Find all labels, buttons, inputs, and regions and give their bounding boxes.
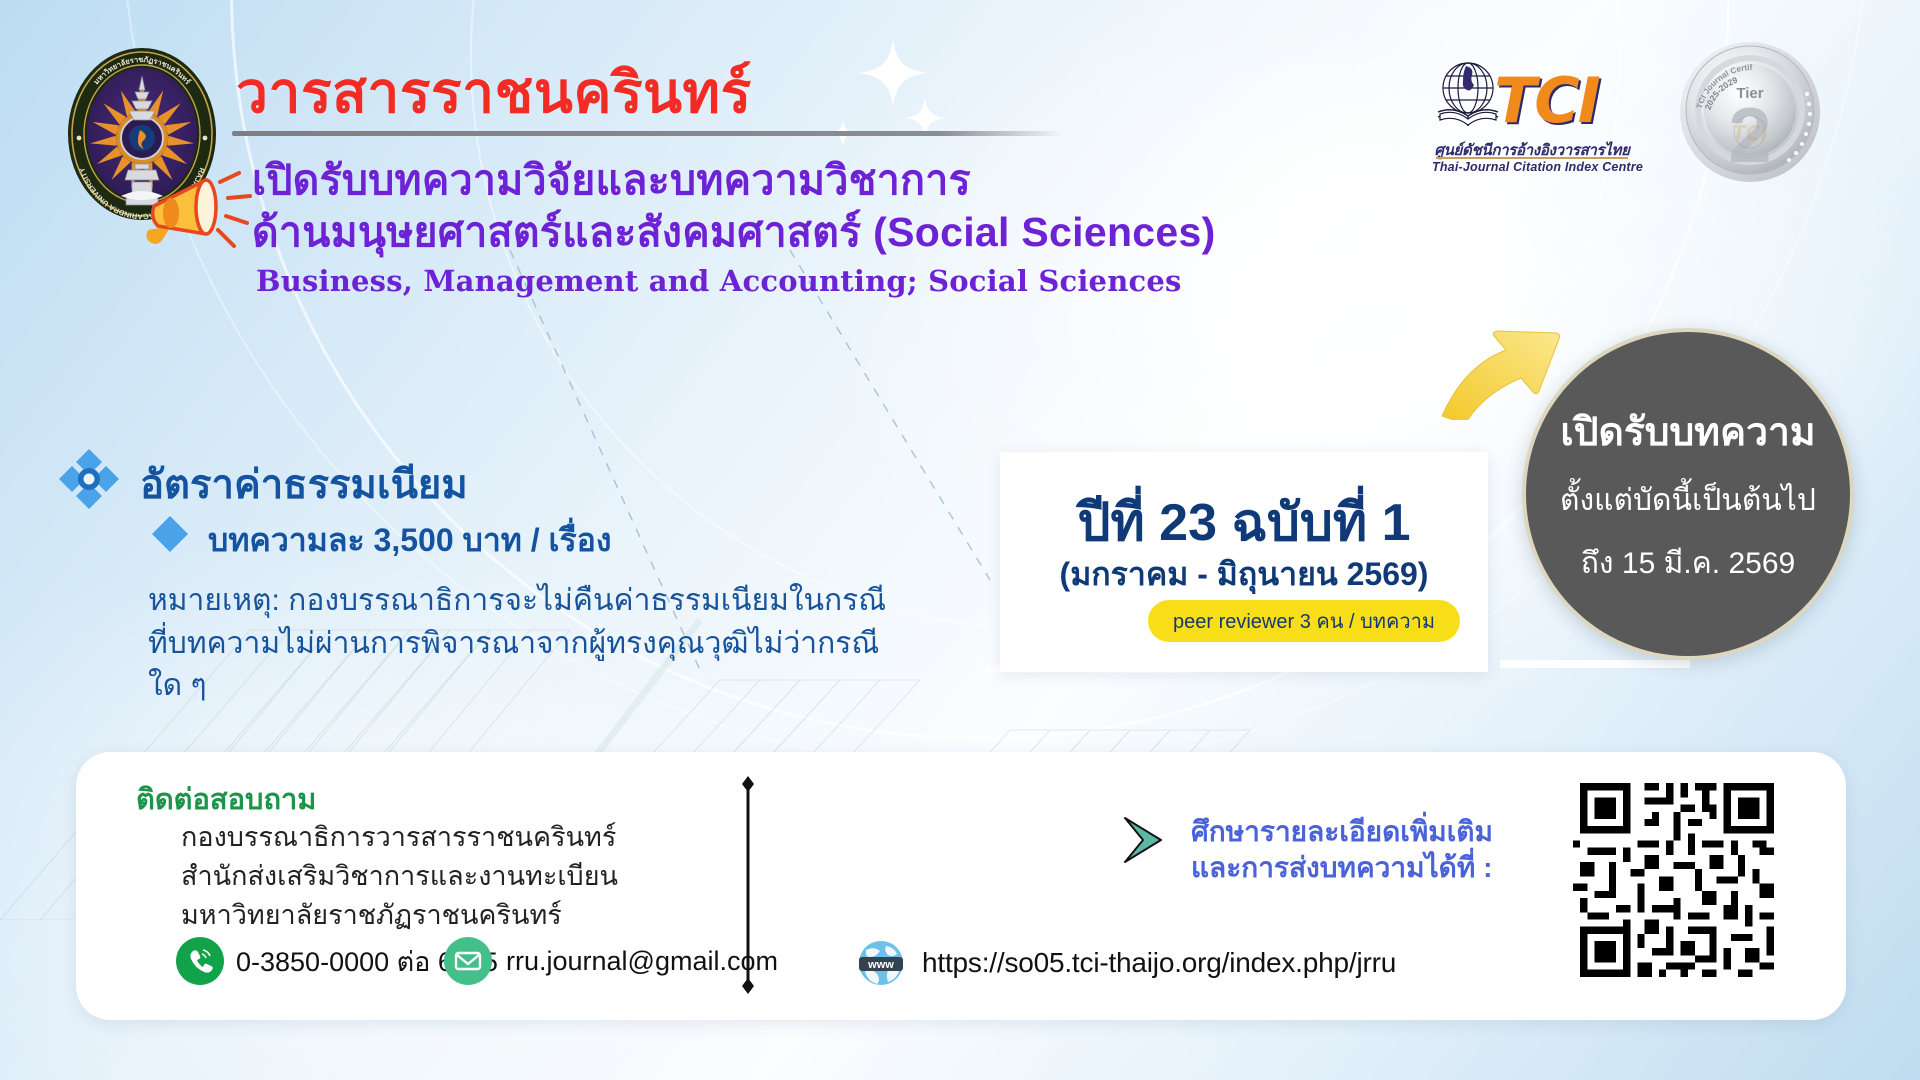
study-more-block: ศึกษารายละเอียดเพิ่มเติม และการส่งบทความ… [1121,814,1493,887]
call-badge-line-3: ถึง 15 มี.ค. 2569 [1581,540,1795,587]
qr-code[interactable] [1573,776,1781,984]
poster-canvas: มหาวิทยาลัยราชภัฏราชนครินทร์ RAJABHAT RA… [0,0,1920,1080]
contact-card: ติดต่อสอบถาม กองบรรณาธิการวารสารราชนคริน… [76,752,1846,1020]
page-title: วารสารราชนครินทร์ [236,48,752,138]
subject-scope: Business, Management and Accounting; Soc… [256,264,1182,298]
tci-wordmark: TCI [1494,64,1599,137]
arrowhead-icon [1121,814,1177,866]
call-for-papers-badge: เปิดรับบทความ ตั้งแต่บัดนี้เป็นต้นไป ถึง… [1522,328,1854,660]
mail-icon [444,937,492,985]
fee-amount: บทความละ 3,500 บาท / เรื่อง [208,515,612,566]
issue-period: (มกราคม - มิถุนายน 2569) [1000,549,1488,600]
call-badge-line-1: เปิดรับบทความ [1560,401,1815,463]
www-label: www [867,959,894,971]
fee-note: หมายเหตุ: กองบรรณาธิการจะไม่คืนค่าธรรมเน… [148,580,888,708]
fee-heading: อัตราค่าธรรมเนียม [140,452,468,516]
globe-icon: www [856,938,906,988]
journal-url-row[interactable]: www https://so05.tci-thaijo.org/index.ph… [856,938,1396,988]
fee-bullet-diamond-icon [152,516,188,552]
accent-bar-right [1500,660,1690,668]
megaphone-icon [140,168,258,258]
contact-email-row[interactable]: rru.journal@gmail.com [444,937,778,985]
tci-rule [1436,157,1628,159]
fee-diamond-icon [58,448,120,510]
study-more-text: ศึกษารายละเอียดเพิ่มเติม และการส่งบทความ… [1191,814,1493,887]
contact-line: กองบรรณาธิการวารสารราชนครินทร์ [181,818,618,857]
contact-line: มหาวิทยาลัยราชภัฏราชนครินทร์ [181,896,618,935]
call-badge-line-2: ตั้งแต่บัดนี้เป็นต้นไป [1560,477,1816,524]
contact-email-text: rru.journal@gmail.com [506,946,778,977]
peer-reviewer-badge: peer reviewer 3 คน / บทความ [1148,600,1460,642]
title-divider [232,131,1064,136]
subtitle-line-2: ด้านมนุษยศาสตร์และสังคมศาสตร์ (Social Sc… [252,200,1216,265]
study-more-line-2: และการส่งบทความได้ที่ : [1191,850,1493,886]
svg-text:TCI: TCI [1732,121,1768,145]
phone-icon [176,937,224,985]
contact-line: สำนักส่งเสริมวิชาการและงานทะเบียน [181,857,618,896]
yellow-arrow-icon [1438,300,1566,420]
contact-address-block: กองบรรณาธิการวารสารราชนครินทร์ สำนักส่งเ… [181,818,618,935]
issue-card: ปีที่ 23 ฉบับที่ 1 (มกราคม - มิถุนายน 25… [1000,452,1488,672]
journal-url-text: https://so05.tci-thaijo.org/index.php/jr… [922,947,1396,979]
study-more-line-1: ศึกษารายละเอียดเพิ่มเติม [1191,814,1493,850]
tci-english-name: Thai-Journal Citation Index Centre [1432,160,1632,174]
tci-logo: TCI ศูนย์ดัชนีการอ้างอิงวารสารไทย Thai-J… [1432,58,1632,186]
contact-heading: ติดต่อสอบถาม [136,776,316,822]
vertical-divider [739,774,757,996]
sparkle-icon-large [858,38,928,108]
tier-medal-badge: TCI Journal Certification 2025-2029 Tier… [1676,36,1824,184]
